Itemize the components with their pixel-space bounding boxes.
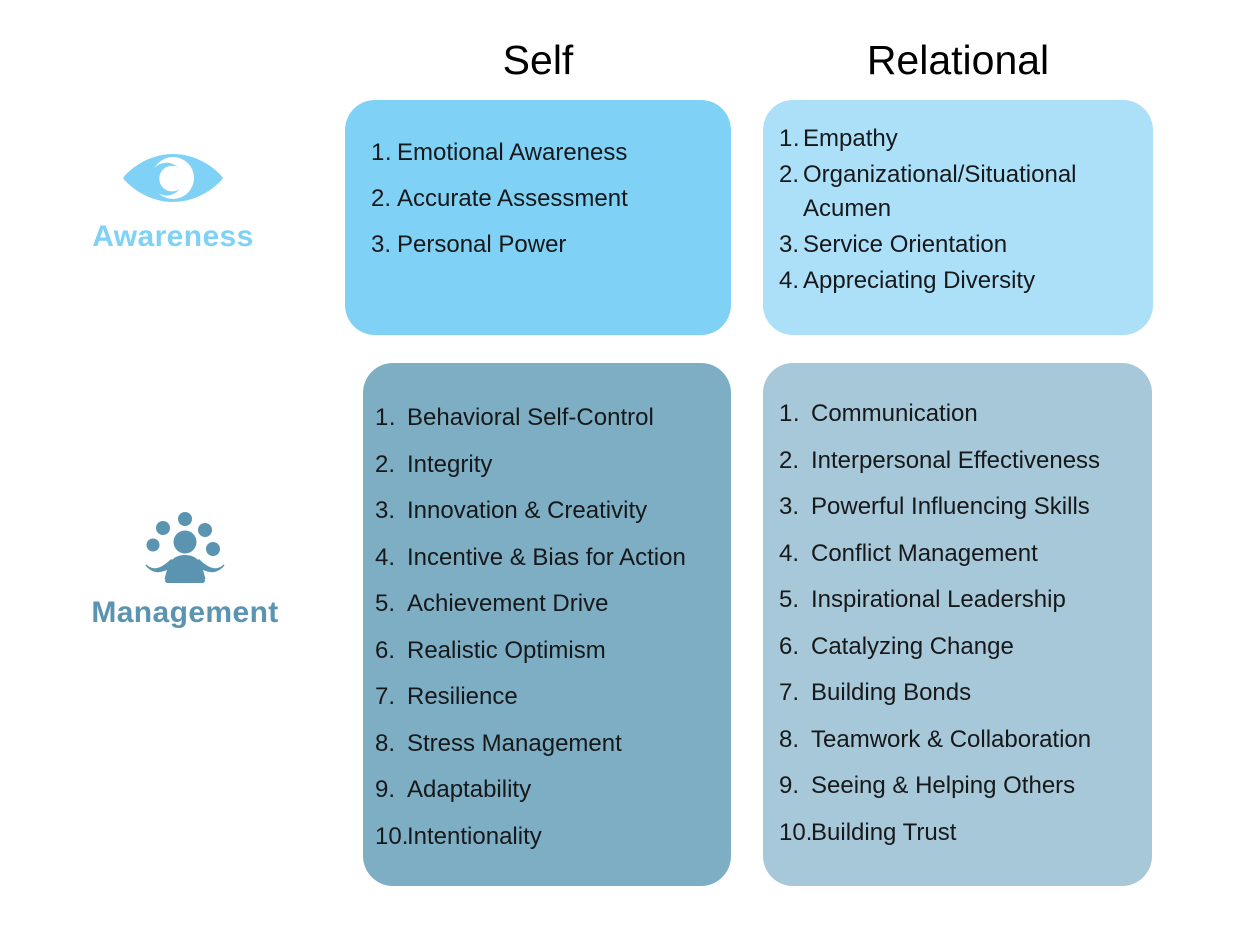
list-item-label: Integrity <box>407 442 731 489</box>
list-item: 2. Integrity <box>375 442 731 489</box>
row-label-management-text: Management <box>91 598 278 628</box>
row-label-awareness: Awareness <box>8 152 338 252</box>
list-item-number: 3. <box>779 228 803 262</box>
list-item: 8. Stress Management <box>375 721 731 768</box>
column-header-self: Self <box>345 40 731 81</box>
list-item-number: 9. <box>375 767 407 814</box>
list-item-number: 8. <box>375 721 407 768</box>
list-item-label: Building Bonds <box>811 670 1152 717</box>
list-item-number: 1. <box>779 391 811 438</box>
list-item: 1. Empathy <box>779 122 1153 156</box>
quadrant-relational-management: 1. Communication 2. Interpersonal Effect… <box>763 363 1152 886</box>
list-item-number: 5. <box>779 577 811 624</box>
list-item-label: Behavioral Self-Control <box>407 395 731 442</box>
list-item-label: Realistic Optimism <box>407 628 731 675</box>
list-item-label: Incentive & Bias for Action <box>407 535 731 582</box>
list-item-number: 3. <box>375 488 407 535</box>
competency-list-self-management: 1. Behavioral Self-Control 2. Integrity … <box>375 395 731 860</box>
list-item: 4. Incentive & Bias for Action <box>375 535 731 582</box>
list-item-number: 8. <box>779 717 811 764</box>
list-item-number: 9. <box>779 763 811 810</box>
list-item-label: Resilience <box>407 674 731 721</box>
emotional-intelligence-matrix: Self Relational Awareness <box>0 0 1241 931</box>
list-item-label: Service Orientation <box>803 228 1153 262</box>
list-item-number: 1. <box>375 395 407 442</box>
list-item: 3. Service Orientation <box>779 228 1153 262</box>
list-item-label: Achievement Drive <box>407 581 731 628</box>
list-item-number: 7. <box>375 674 407 721</box>
list-item: 4. Appreciating Diversity <box>779 264 1153 298</box>
list-item: 2. Organizational/Situational Acumen <box>779 158 1153 226</box>
list-item-label: Catalyzing Change <box>811 624 1152 671</box>
list-item-label: Organizational/Situational Acumen <box>803 158 1153 226</box>
list-item-number: 1. <box>779 122 803 156</box>
list-item-number: 3. <box>371 222 397 268</box>
list-item-label: Teamwork & Collaboration <box>811 717 1152 764</box>
column-header-relational: Relational <box>763 40 1153 81</box>
row-label-management: Management <box>20 512 350 628</box>
quadrant-self-awareness: 1. Emotional Awareness 2. Accurate Asses… <box>345 100 731 335</box>
list-item-label: Appreciating Diversity <box>803 264 1153 298</box>
list-item-label: Adaptability <box>407 767 731 814</box>
list-item-label: Emotional Awareness <box>397 130 731 176</box>
list-item: 6. Realistic Optimism <box>375 628 731 675</box>
list-item: 10. Building Trust <box>779 810 1152 857</box>
list-item-label: Communication <box>811 391 1152 438</box>
list-item-label: Accurate Assessment <box>397 176 731 222</box>
list-item-label: Inspirational Leadership <box>811 577 1152 624</box>
list-item-number: 2. <box>779 438 811 485</box>
list-item: 10. Intentionality <box>375 814 731 861</box>
list-item: 1. Communication <box>779 391 1152 438</box>
quadrant-self-management: 1. Behavioral Self-Control 2. Integrity … <box>363 363 731 886</box>
list-item-number: 4. <box>779 264 803 298</box>
list-item: 7. Building Bonds <box>779 670 1152 717</box>
row-label-awareness-text: Awareness <box>92 222 253 252</box>
list-item: 3. Innovation & Creativity <box>375 488 731 535</box>
list-item-number: 4. <box>375 535 407 582</box>
list-item-number: 2. <box>371 176 397 222</box>
list-item-label: Building Trust <box>811 810 1152 857</box>
competency-list-relational-awareness: 1. Empathy 2. Organizational/Situational… <box>779 122 1153 298</box>
list-item-label: Powerful Influencing Skills <box>811 484 1152 531</box>
list-item: 3. Personal Power <box>371 222 731 268</box>
competency-list-relational-management: 1. Communication 2. Interpersonal Effect… <box>779 391 1152 856</box>
list-item-label: Stress Management <box>407 721 731 768</box>
list-item-label: Intentionality <box>407 814 731 861</box>
list-item: 9. Seeing & Helping Others <box>779 763 1152 810</box>
list-item-number: 4. <box>779 531 811 578</box>
list-item-number: 6. <box>779 624 811 671</box>
list-item: 2. Accurate Assessment <box>371 176 731 222</box>
list-item: 1. Emotional Awareness <box>371 130 731 176</box>
list-item: 1. Behavioral Self-Control <box>375 395 731 442</box>
list-item: 4. Conflict Management <box>779 531 1152 578</box>
list-item-label: Conflict Management <box>811 531 1152 578</box>
list-item: 7. Resilience <box>375 674 731 721</box>
list-item-number: 10. <box>779 810 811 857</box>
list-item-number: 10. <box>375 814 407 861</box>
competency-list-self-awareness: 1. Emotional Awareness 2. Accurate Asses… <box>371 130 731 268</box>
quadrant-relational-awareness: 1. Empathy 2. Organizational/Situational… <box>763 100 1153 335</box>
list-item-number: 2. <box>375 442 407 489</box>
list-item-number: 3. <box>779 484 811 531</box>
juggler-icon <box>139 512 231 584</box>
list-item-label: Seeing & Helping Others <box>811 763 1152 810</box>
list-item-number: 5. <box>375 581 407 628</box>
list-item-number: 6. <box>375 628 407 675</box>
list-item: 5. Inspirational Leadership <box>779 577 1152 624</box>
list-item: 9. Adaptability <box>375 767 731 814</box>
list-item: 2. Interpersonal Effectiveness <box>779 438 1152 485</box>
list-item: 3. Powerful Influencing Skills <box>779 484 1152 531</box>
list-item-label: Interpersonal Effectiveness <box>811 438 1152 485</box>
list-item-label: Innovation & Creativity <box>407 488 731 535</box>
list-item-label: Empathy <box>803 122 1153 156</box>
list-item: 5. Achievement Drive <box>375 581 731 628</box>
list-item-label: Personal Power <box>397 222 731 268</box>
list-item: 6. Catalyzing Change <box>779 624 1152 671</box>
list-item-number: 2. <box>779 158 803 192</box>
list-item-number: 7. <box>779 670 811 717</box>
list-item: 8. Teamwork & Collaboration <box>779 717 1152 764</box>
eye-icon <box>121 152 225 204</box>
list-item-number: 1. <box>371 130 397 176</box>
